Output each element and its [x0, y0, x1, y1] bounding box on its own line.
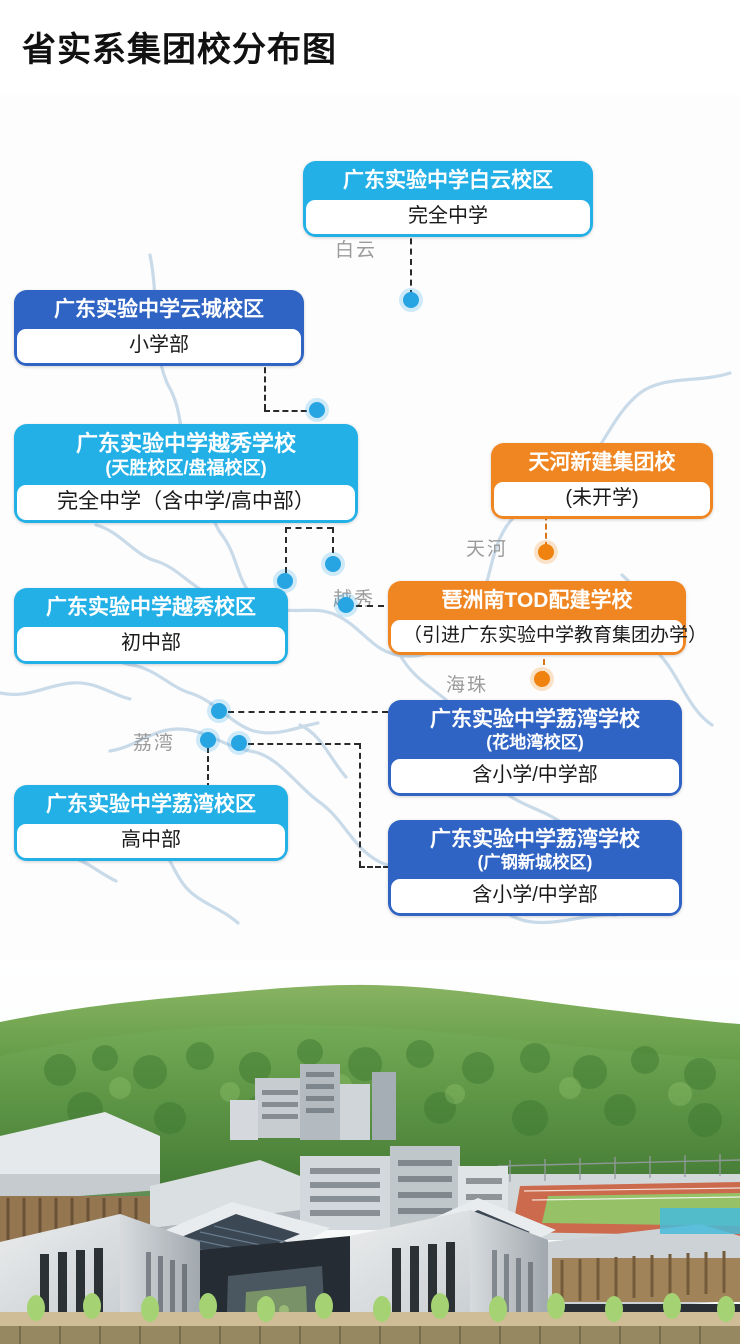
connector-guanggang-horizontal-1 [248, 743, 360, 745]
card-yuexiu-school[interactable]: 广东实验中学越秀学校 (天胜校区/盘福校区) 完全中学（含中学/高中部） [14, 424, 358, 523]
marker-liwan-guanggang[interactable] [231, 735, 247, 751]
card-liwan-campus[interactable]: 广东实验中学荔湾校区 高中部 [14, 785, 288, 861]
connector-yuexiu-horizontal [285, 527, 333, 529]
connector-guanggang-horizontal-2 [359, 866, 389, 868]
district-label-liwan: 荔湾 [133, 728, 175, 755]
connector-huadiwan-horizontal [228, 711, 388, 713]
marker-baiyun-campus[interactable] [403, 292, 419, 308]
marker-yuncheng-campus[interactable] [309, 402, 325, 418]
connector-yuncheng-vertical [264, 358, 266, 410]
connector-yuexiu-left-vertical [285, 527, 287, 573]
card-yuexiu-school-title: 广东实验中学越秀学校 (天胜校区/盘福校区) [17, 427, 355, 482]
campus-photo [0, 960, 740, 1344]
district-label-haizhu: 海珠 [446, 670, 488, 697]
card-pazhou-tod-title: 琶洲南TOD配建学校 [391, 584, 683, 617]
card-yuncheng-campus-body: 小学部 [17, 329, 301, 363]
card-yuexiu-campus-body: 初中部 [17, 627, 285, 661]
marker-tianhe-new[interactable] [538, 544, 554, 560]
card-liwan-huadiwan[interactable]: 广东实验中学荔湾学校 (花地湾校区) 含小学/中学部 [388, 700, 682, 796]
marker-pazhou-tod[interactable] [534, 671, 550, 687]
connector-liwan-campus-vertical [207, 747, 209, 789]
connector-yuexiu-campus-horizontal [356, 605, 384, 607]
marker-yuexiu-school-2[interactable] [277, 573, 293, 589]
marker-yuexiu-campus[interactable] [338, 597, 354, 613]
card-pazhou-tod[interactable]: 琶洲南TOD配建学校 （引进广东实验中学教育集团办学） [388, 581, 686, 655]
infographic-page: 省实系集团校分布图 [0, 0, 740, 1344]
card-baiyun-campus[interactable]: 广东实验中学白云校区 完全中学 [303, 161, 593, 237]
card-yuncheng-campus-title: 广东实验中学云城校区 [17, 293, 301, 326]
district-label-baiyun: 白云 [335, 235, 377, 262]
card-baiyun-campus-body: 完全中学 [306, 200, 590, 234]
card-liwan-guanggang-title: 广东实验中学荔湾学校 (广钢新城校区) [391, 823, 679, 876]
card-liwan-huadiwan-subtitle: (花地湾校区) [403, 733, 667, 752]
marker-liwan-huadiwan[interactable] [211, 703, 227, 719]
connector-baiyun-vertical [410, 228, 412, 296]
card-liwan-campus-title: 广东实验中学荔湾校区 [17, 788, 285, 821]
card-tianhe-new[interactable]: 天河新建集团校 (未开学) [491, 443, 713, 519]
card-pazhou-tod-body: （引进广东实验中学教育集团办学） [391, 620, 683, 653]
district-label-tianhe: 天河 [466, 534, 508, 561]
card-liwan-guanggang-subtitle: (广钢新城校区) [403, 853, 667, 872]
card-yuexiu-school-body: 完全中学（含中学/高中部） [17, 485, 355, 520]
map-area: 白云 天河 越秀 海珠 荔湾 [0, 95, 740, 960]
card-liwan-huadiwan-title: 广东实验中学荔湾学校 (花地湾校区) [391, 703, 679, 756]
card-baiyun-campus-title: 广东实验中学白云校区 [306, 164, 590, 197]
card-tianhe-new-title: 天河新建集团校 [494, 446, 710, 479]
marker-liwan-campus[interactable] [200, 732, 216, 748]
campus-photo-illustration [0, 960, 740, 1344]
card-liwan-guanggang[interactable]: 广东实验中学荔湾学校 (广钢新城校区) 含小学/中学部 [388, 820, 682, 916]
card-yuexiu-campus[interactable]: 广东实验中学越秀校区 初中部 [14, 588, 288, 664]
marker-yuexiu-school[interactable] [325, 556, 341, 572]
card-liwan-huadiwan-body: 含小学/中学部 [391, 759, 679, 793]
card-yuncheng-campus[interactable]: 广东实验中学云城校区 小学部 [14, 290, 304, 366]
card-yuexiu-school-subtitle: (天胜校区/盘福校区) [29, 458, 343, 478]
card-liwan-campus-body: 高中部 [17, 824, 285, 858]
card-yuexiu-campus-title: 广东实验中学越秀校区 [17, 591, 285, 624]
connector-guanggang-vertical [359, 743, 361, 867]
card-tianhe-new-body: (未开学) [494, 482, 710, 516]
card-liwan-guanggang-body: 含小学/中学部 [391, 879, 679, 913]
page-title: 省实系集团校分布图 [22, 22, 337, 71]
